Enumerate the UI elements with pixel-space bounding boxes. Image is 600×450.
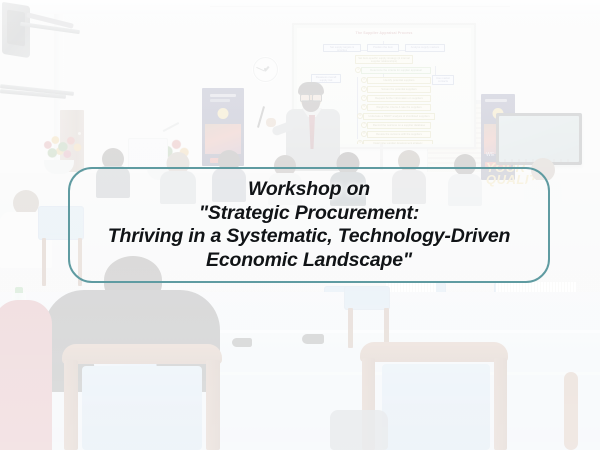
flowchart-node: Review the outcome with the suppliers <box>367 131 431 138</box>
shoe <box>302 334 324 344</box>
flowchart-title: The Supplier Appraisal Process <box>297 31 471 35</box>
flowchart-node: Record the outcome on a supplier databas… <box>367 122 431 129</box>
banner-logo <box>218 108 229 119</box>
title-card: Workshop on "Strategic Procurement: Thri… <box>68 167 550 283</box>
clock-center <box>264 68 267 71</box>
banner-subline <box>210 99 230 102</box>
display-panel <box>499 116 579 162</box>
chair-top-rail <box>62 344 222 364</box>
wall-speaker <box>2 2 30 58</box>
chair-post <box>206 360 220 450</box>
presenter-hand <box>266 118 276 127</box>
flowchart-step-number: 9 <box>357 140 363 144</box>
ceiling-seam <box>210 6 510 7</box>
flowchart-node: Set supply targets & priorities <box>323 44 361 52</box>
flowchart-step-number: 1 <box>355 67 361 73</box>
flowchart-step-number: 6 <box>357 113 363 119</box>
chair-leg <box>348 308 353 348</box>
flowchart-node: Undertake a SWOT analysis of shortlisted… <box>363 113 435 120</box>
chair-top-rail <box>360 342 508 362</box>
flower-arrangement <box>40 133 84 164</box>
chair-seat-back <box>382 364 490 450</box>
shoe <box>232 338 252 347</box>
audience-torso <box>0 300 52 450</box>
workshop-title: Workshop on "Strategic Procurement: Thri… <box>108 178 510 272</box>
screenshot-canvas: WE BUILD YOURQUALITY The Supplier Apprai… <box>0 0 600 450</box>
chair-back <box>344 286 390 310</box>
chair-seat-back <box>82 366 202 450</box>
presenter-glasses <box>300 93 322 100</box>
banner-headline <box>485 99 507 102</box>
flowchart-step-number: 5 <box>361 104 367 110</box>
wall-display <box>496 113 582 165</box>
flowchart-node: Request further information on suppliers <box>367 95 431 102</box>
audience-member <box>0 300 52 450</box>
flowchart-node: Position the item <box>367 44 399 52</box>
wall-clock-icon <box>253 57 278 82</box>
chair-leg <box>564 372 578 450</box>
flowchart-node: Weight the criteria & rate the suppliers <box>367 104 431 111</box>
room-ceiling <box>0 0 600 14</box>
backpack <box>330 410 388 450</box>
chair-post <box>64 360 78 450</box>
chair-post <box>494 358 507 450</box>
flowchart-node: Identify potential suppliers <box>367 77 431 84</box>
bottle-cap <box>15 287 23 293</box>
flowchart-step-number: 2 <box>361 77 367 83</box>
flowchart-step-number: 7 <box>361 122 367 128</box>
chair-leg <box>42 238 46 286</box>
flowchart-node: Screen the potential suppliers <box>367 86 431 93</box>
flowchart-step-number: 8 <box>361 131 367 137</box>
flowchart-step-number: 3 <box>361 86 367 92</box>
flowchart-node: Determine supplier development strategy <box>363 140 433 144</box>
banner-headline <box>210 94 236 97</box>
flowchart-connector <box>357 77 358 139</box>
banner-photo <box>205 124 241 154</box>
flowchart-node: Analyse supply markets <box>405 44 445 52</box>
flowchart-node: Set item-specific supply strategy (& int… <box>355 55 413 64</box>
flowchart-node: Determine the criteria for supplier appr… <box>361 67 431 74</box>
flowchart-node: Use market contacts <box>432 75 454 85</box>
flowchart-step-number: 4 <box>361 95 367 101</box>
